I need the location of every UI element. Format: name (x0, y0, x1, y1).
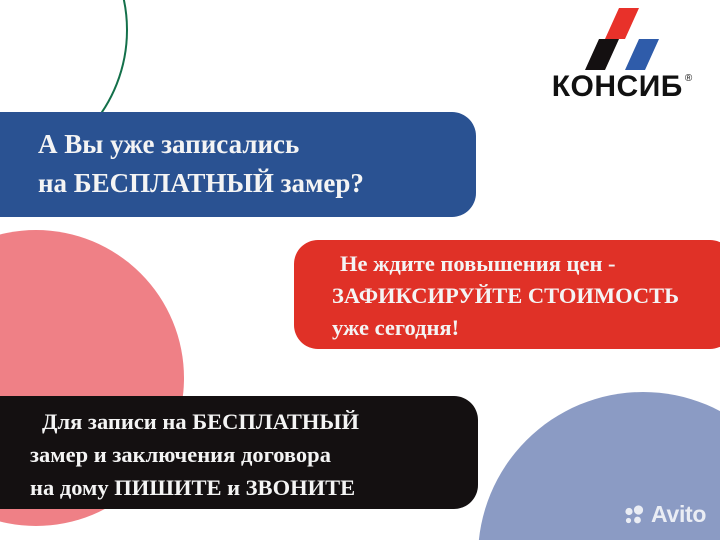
avito-dots-icon (624, 505, 648, 525)
free-measurement-question-banner: А Вы уже записались на БЕСПЛАТНЫЙ замер? (0, 112, 476, 217)
contact-instruction-banner: Для записи на БЕСПЛАТНЫЙ замер и заключе… (0, 396, 478, 509)
poster-canvas: КОНСИБ ® А Вы уже записались на БЕСПЛАТН… (0, 0, 720, 540)
brand-wordmark-row: КОНСИБ ® (548, 72, 696, 102)
black-banner-line-1: Для записи на БЕСПЛАТНЫЙ (30, 405, 478, 438)
brand-wordmark: КОНСИБ (552, 72, 683, 102)
brand-logo: КОНСИБ ® (548, 8, 696, 102)
avito-wordmark: Avito (651, 503, 706, 526)
avito-watermark: Avito (624, 503, 706, 526)
red-banner-line-3: уже сегодня! (332, 312, 720, 344)
red-banner-line-2: ЗАФИКСИРУЙТЕ СТОИМОСТЬ (332, 280, 720, 312)
blue-banner-line-1: А Вы уже записались (38, 125, 476, 164)
red-banner-line-1: Не ждите повышения цен - (332, 248, 720, 280)
konsib-logo-mark-icon (585, 8, 659, 70)
price-lock-banner: Не ждите повышения цен - ЗАФИКСИРУЙТЕ СТ… (294, 240, 720, 349)
black-banner-line-3: на дому ПИШИТЕ и ЗВОНИТЕ (30, 471, 478, 504)
black-banner-line-2: замер и заключения договора (30, 438, 478, 471)
blue-banner-line-2: на БЕСПЛАТНЫЙ замер? (38, 164, 476, 203)
registered-trademark-symbol: ® (685, 74, 692, 84)
